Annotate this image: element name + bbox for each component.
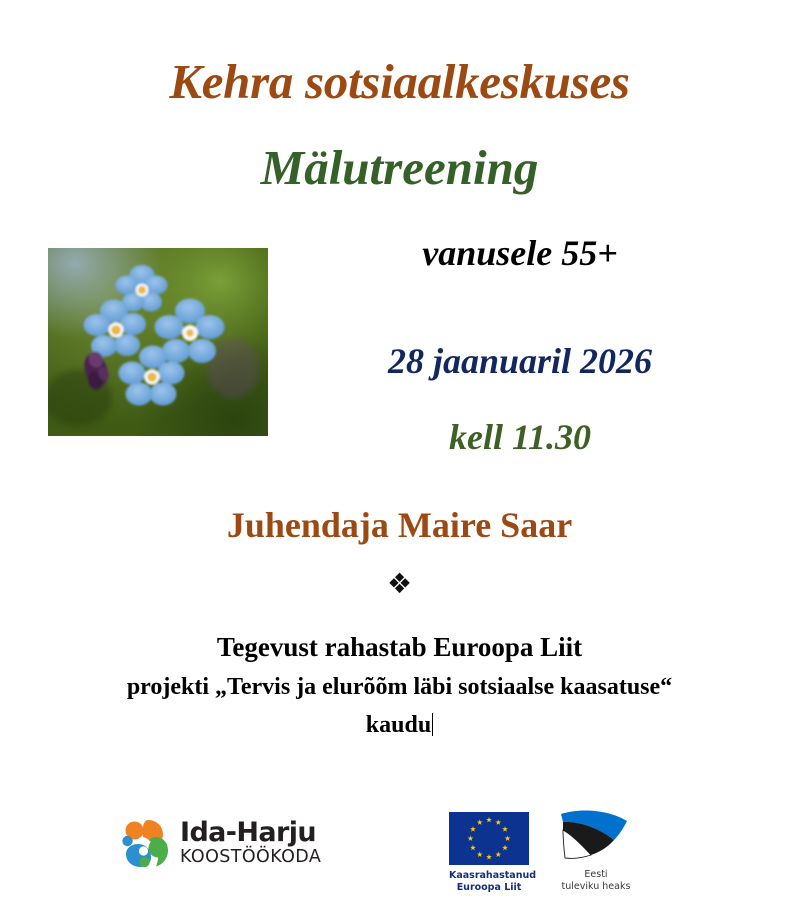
event-time: kell 11.30 <box>260 416 780 458</box>
diamond-ornament-icon: ❖ <box>0 570 799 598</box>
eu-caption: Kaasrahastanud Euroopa Liit <box>449 870 529 894</box>
logo-european-union: Kaasrahastanud Euroopa Liit <box>449 812 529 894</box>
forget-me-not-photo <box>48 248 268 436</box>
eesti-caption: Eesti tuleviku heaks <box>553 869 639 894</box>
funding-line-3: kaudu <box>366 712 431 738</box>
poster-canvas: Kehra sotsiaalkeskuses Mälutreening <box>0 0 799 917</box>
flower-photo-graphic <box>48 248 268 436</box>
funding-statement: Tegevust rahastab Euroopa Liit projekti … <box>0 630 799 742</box>
instructor-name: Juhendaja Maire Saar <box>0 504 799 546</box>
ida-harju-name: Ida-Harju <box>180 819 321 846</box>
logo-eesti-tuleviku-heaks: Eesti tuleviku heaks <box>553 805 639 894</box>
eu-caption-line-1: Kaasrahastanud <box>449 870 529 882</box>
estonian-flag-swoosh-icon <box>553 805 639 867</box>
funding-line-3-wrap: kaudu <box>0 710 799 742</box>
text-cursor <box>432 713 433 736</box>
eu-caption-line-2: Euroopa Liit <box>449 882 529 894</box>
eesti-caption-line-2: tuleviku heaks <box>553 881 639 893</box>
subtitle-age: vanusele 55+ <box>260 232 780 274</box>
headline-location: Kehra sotsiaalkeskuses <box>0 56 799 107</box>
ida-harju-people-icon <box>118 817 170 869</box>
eesti-caption-line-1: Eesti <box>553 869 639 881</box>
event-date: 28 jaanuaril 2026 <box>260 340 780 382</box>
headline-activity: Mälutreening <box>0 142 799 193</box>
eu-flag-icon <box>449 812 529 865</box>
funding-line-2: projekti „Tervis ja elurõõm läbi sotsiaa… <box>0 672 799 704</box>
ida-harju-subtitle: KOOSTÖÖKODA <box>180 848 321 866</box>
ida-harju-wordmark: Ida-Harju KOOSTÖÖKODA <box>180 819 321 866</box>
funding-line-1: Tegevust rahastab Euroopa Liit <box>0 630 799 665</box>
logo-ida-harju-koostookoda: Ida-Harju KOOSTÖÖKODA <box>118 812 314 874</box>
